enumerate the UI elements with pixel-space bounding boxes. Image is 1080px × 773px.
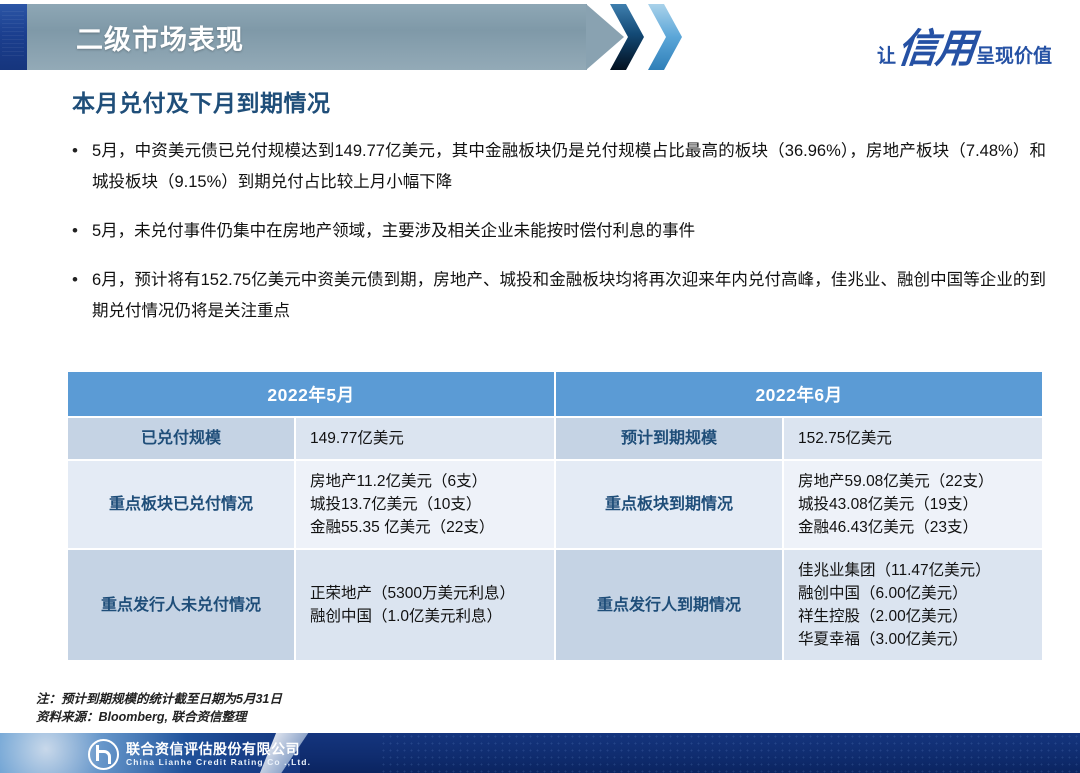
company-name-cn: 联合资信评估股份有限公司 [126, 742, 311, 757]
footnotes: 注：预计到期规模的统计截至日期为5月31日 资料来源：Bloomberg, 联合… [36, 690, 282, 726]
row-value-key-sectors-maturity: 房地产59.08亿美元（22支） 城投43.08亿美元（19支） 金融46.43… [784, 461, 1042, 548]
value-line: 金融46.43亿美元（23支） [798, 516, 1028, 539]
value-line: 祥生控股（2.00亿美元） [798, 605, 1028, 628]
row-value-expected-maturity-scale: 152.75亿美元 [784, 418, 1042, 459]
bullet-list: • 5月，中资美元债已兑付规模达到149.77亿美元，其中金融板块仍是兑付规模占… [66, 136, 1046, 345]
value-line: 华夏幸福（3.00亿美元） [798, 628, 1028, 651]
bullet-text: 5月，未兑付事件仍集中在房地产领域，主要涉及相关企业未能按时偿付利息的事件 [92, 216, 1046, 247]
row-label-key-issuers-maturity: 重点发行人到期情况 [556, 550, 782, 660]
value-line: 佳兆业集团（11.47亿美元） [798, 559, 1028, 582]
page-header: 二级市场表现 让 信用 呈现价值 [0, 0, 1080, 74]
value-line: 城投13.7亿美元（10支） [310, 493, 540, 516]
row-value-key-issuers-default: 正荣地产（5300万美元利息） 融创中国（1.0亿美元利息） [296, 550, 554, 660]
value-lines: 房地产59.08亿美元（22支） 城投43.08亿美元（19支） 金融46.43… [798, 470, 1028, 539]
value-lines: 房地产11.2亿美元（6支） 城投13.7亿美元（10支） 金融55.35 亿美… [310, 470, 540, 539]
row-label-key-issuers-default: 重点发行人未兑付情况 [68, 550, 294, 660]
value-line: 正荣地产（5300万美元利息） [310, 582, 540, 605]
bullet-marker-icon: • [66, 136, 92, 166]
row-label-key-sectors-redeemed: 重点板块已兑付情况 [68, 461, 294, 548]
company-logo-text: 联合资信评估股份有限公司 China Lianhe Credit Rating … [126, 742, 311, 768]
table-header-may: 2022年5月 [68, 372, 554, 416]
table-row: 重点板块已兑付情况 房地产11.2亿美元（6支） 城投13.7亿美元（10支） … [68, 461, 1042, 548]
chevron-dark-icon [610, 4, 644, 70]
page-footer: 联合资信评估股份有限公司 China Lianhe Credit Rating … [0, 733, 1080, 773]
value-line: 融创中国（1.0亿美元利息） [310, 605, 540, 628]
table-row: 已兑付规模 149.77亿美元 预计到期规模 152.75亿美元 [68, 418, 1042, 459]
bullet-text: 5月，中资美元债已兑付规模达到149.77亿美元，其中金融板块仍是兑付规模占比最… [92, 136, 1046, 198]
chevron-light-icon [648, 4, 682, 70]
row-value-key-issuers-maturity: 佳兆业集团（11.47亿美元） 融创中国（6.00亿美元） 祥生控股（2.00亿… [784, 550, 1042, 660]
row-label-expected-maturity-scale: 预计到期规模 [556, 418, 782, 459]
footnote-source: 资料来源：Bloomberg, 联合资信整理 [36, 708, 282, 726]
company-logo: 联合资信评估股份有限公司 China Lianhe Credit Rating … [88, 739, 311, 770]
header-left-accent-bar [0, 4, 27, 70]
redemption-maturity-table: 2022年5月 2022年6月 已兑付规模 149.77亿美元 预计到期规模 1… [66, 370, 1044, 662]
brand-slogan-prefix: 让 [877, 41, 896, 68]
row-value-redeemed-scale: 149.77亿美元 [296, 418, 554, 459]
value-line: 城投43.08亿美元（19支） [798, 493, 1028, 516]
table-row: 重点发行人未兑付情况 正荣地产（5300万美元利息） 融创中国（1.0亿美元利息… [68, 550, 1042, 660]
table-header-june: 2022年6月 [556, 372, 1042, 416]
section-title: 本月兑付及下月到期情况 [72, 84, 331, 118]
value-line: 房地产11.2亿美元（6支） [310, 470, 540, 493]
lianhe-emblem-icon [88, 739, 119, 770]
row-label-key-sectors-maturity: 重点板块到期情况 [556, 461, 782, 548]
value-line: 房地产59.08亿美元（22支） [798, 470, 1028, 493]
value-lines: 正荣地产（5300万美元利息） 融创中国（1.0亿美元利息） [310, 582, 540, 628]
table-header-row: 2022年5月 2022年6月 [68, 372, 1042, 416]
bullet-item: • 5月，未兑付事件仍集中在房地产领域，主要涉及相关企业未能按时偿付利息的事件 [66, 216, 1046, 247]
value-line: 融创中国（6.00亿美元） [798, 582, 1028, 605]
bullet-item: • 5月，中资美元债已兑付规模达到149.77亿美元，其中金融板块仍是兑付规模占… [66, 136, 1046, 198]
bullet-marker-icon: • [66, 265, 92, 295]
company-name-en: China Lianhe Credit Rating Co .,Ltd. [126, 757, 311, 768]
row-value-key-sectors-redeemed: 房地产11.2亿美元（6支） 城投13.7亿美元（10支） 金融55.35 亿美… [296, 461, 554, 548]
brand-slogan-suffix: 呈现价值 [976, 41, 1052, 68]
brand-slogan-emphasis: 信用 [895, 16, 977, 74]
footnote-note: 注：预计到期规模的统计截至日期为5月31日 [36, 690, 282, 708]
value-lines: 149.77亿美元 [310, 427, 540, 450]
value-lines: 152.75亿美元 [798, 427, 1028, 450]
bullet-marker-icon: • [66, 216, 92, 246]
value-line: 149.77亿美元 [310, 427, 540, 450]
row-label-redeemed-scale: 已兑付规模 [68, 418, 294, 459]
bullet-text: 6月，预计将有152.75亿美元中资美元债到期，房地产、城投和金融板块均将再次迎… [92, 265, 1046, 327]
page-title: 二级市场表现 [76, 18, 244, 57]
value-line: 152.75亿美元 [798, 427, 1028, 450]
bullet-item: • 6月，预计将有152.75亿美元中资美元债到期，房地产、城投和金融板块均将再… [66, 265, 1046, 327]
value-lines: 佳兆业集团（11.47亿美元） 融创中国（6.00亿美元） 祥生控股（2.00亿… [798, 559, 1028, 651]
brand-slogan: 让 信用 呈现价值 [877, 16, 1052, 60]
value-line: 金融55.35 亿美元（22支） [310, 516, 540, 539]
